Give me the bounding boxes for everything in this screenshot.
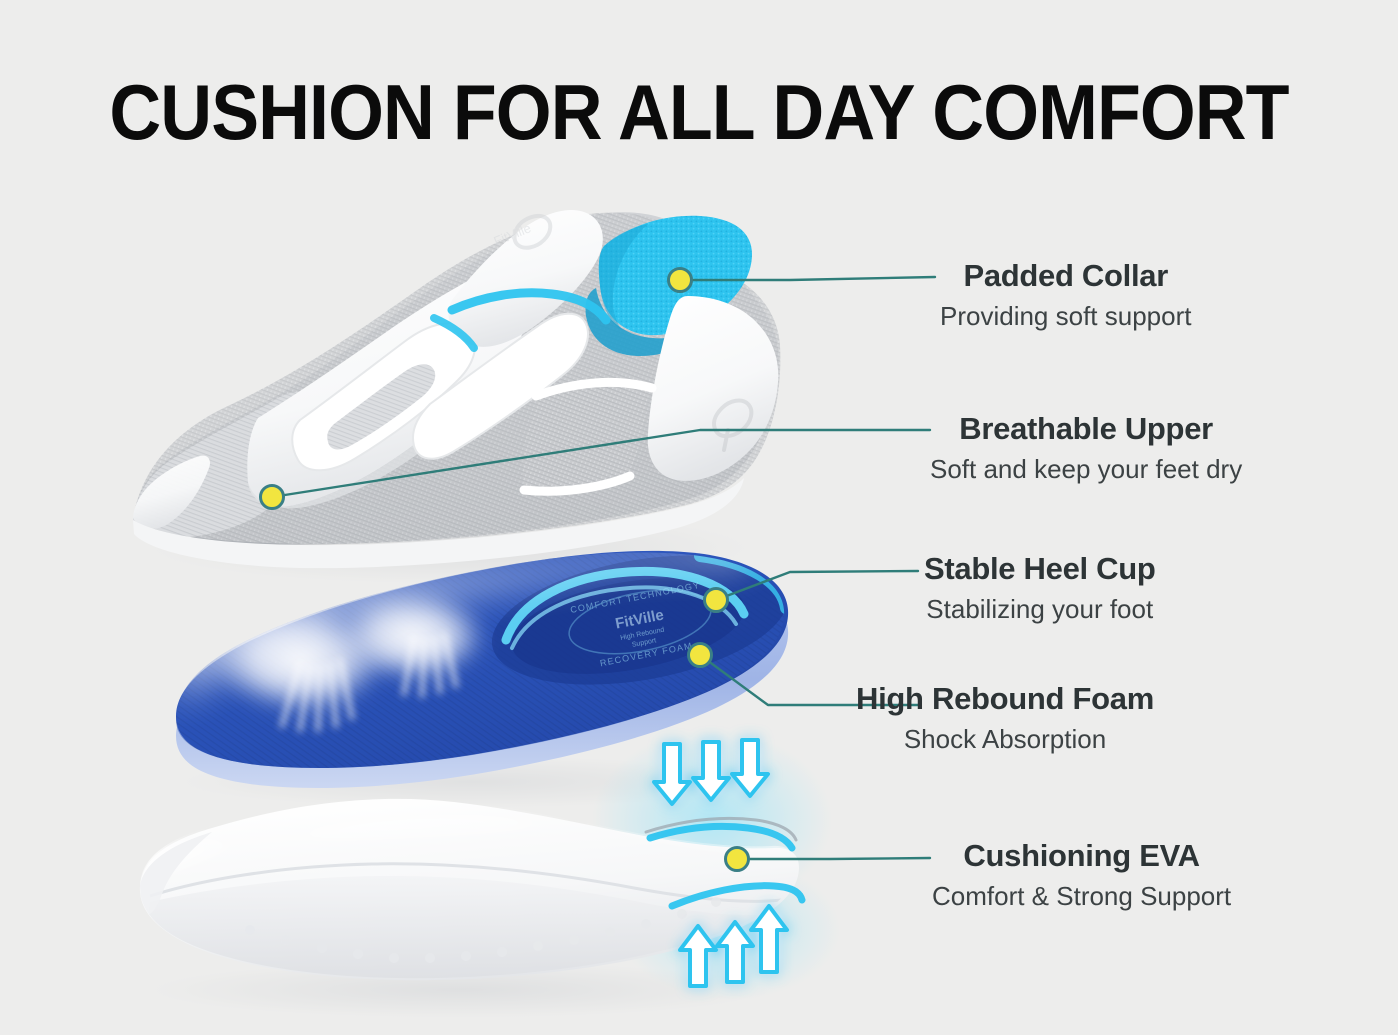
callout-stable-heel-cup[interactable]: Stable Heel Cup Stabilizing your foot (924, 551, 1156, 625)
callout-cushioning-eva[interactable]: Cushioning EVA Comfort & Strong Support (932, 838, 1231, 912)
callout-padded-collar[interactable]: Padded Collar Providing soft support (940, 258, 1191, 332)
callout-title: Padded Collar (940, 258, 1191, 294)
page-title: CUSHION FOR ALL DAY COMFORT (56, 72, 1342, 152)
callout-subtitle: Shock Absorption (856, 723, 1154, 755)
callout-title: Cushioning EVA (932, 838, 1231, 874)
callout-breathable-upper[interactable]: Breathable Upper Soft and keep your feet… (930, 411, 1242, 485)
compression-arrows-down (654, 740, 768, 804)
infographic-canvas: FitVille (0, 0, 1398, 1035)
callout-title: High Rebound Foam (856, 681, 1154, 717)
callout-subtitle: Providing soft support (940, 300, 1191, 332)
callout-title: Breathable Upper (930, 411, 1242, 447)
shoe-graphic: FitVille (120, 190, 820, 570)
callout-subtitle: Stabilizing your foot (924, 593, 1156, 625)
callout-high-rebound-foam[interactable]: High Rebound Foam Shock Absorption (856, 681, 1154, 755)
callout-subtitle: Comfort & Strong Support (932, 880, 1231, 912)
callout-title: Stable Heel Cup (924, 551, 1156, 587)
callout-subtitle: Soft and keep your feet dry (930, 453, 1242, 485)
